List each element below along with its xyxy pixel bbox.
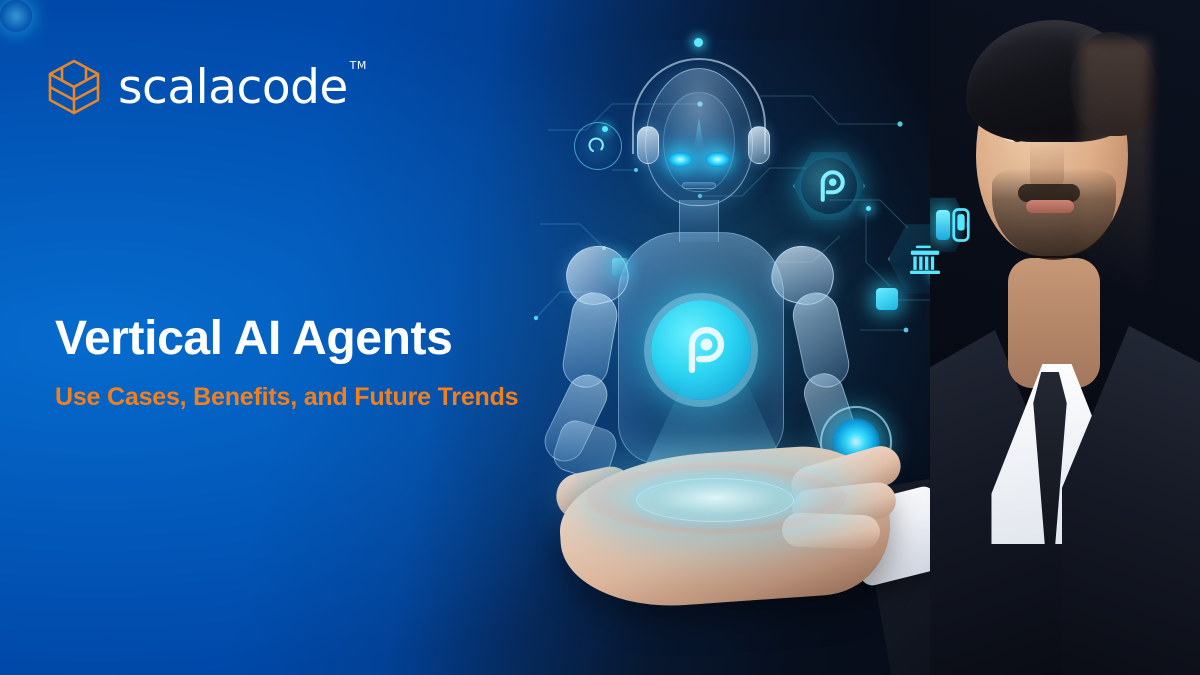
battery-icon xyxy=(936,210,950,240)
headline-block: Vertical AI Agents Use Cases, Benefits, … xyxy=(55,313,615,412)
glow-dot xyxy=(602,126,608,132)
portrait-mouth xyxy=(1026,200,1074,213)
hero-banner: scalacode TM xyxy=(0,0,1200,675)
trademark-symbol: TM xyxy=(350,60,367,71)
brand-wordmark-text: scalacode xyxy=(118,60,348,115)
isometric-cube-icon xyxy=(46,58,102,116)
page-subtitle: Use Cases, Benefits, and Future Trends xyxy=(55,383,615,412)
portrait-rim-light xyxy=(1080,40,1150,460)
brand-logo[interactable]: scalacode TM xyxy=(46,58,348,116)
page-title: Vertical AI Agents xyxy=(55,313,615,365)
brand-wordmark: scalacode TM xyxy=(118,64,348,111)
glow-dot xyxy=(866,206,871,211)
businessman-portrait xyxy=(930,0,1200,675)
glow-dot xyxy=(694,38,703,47)
